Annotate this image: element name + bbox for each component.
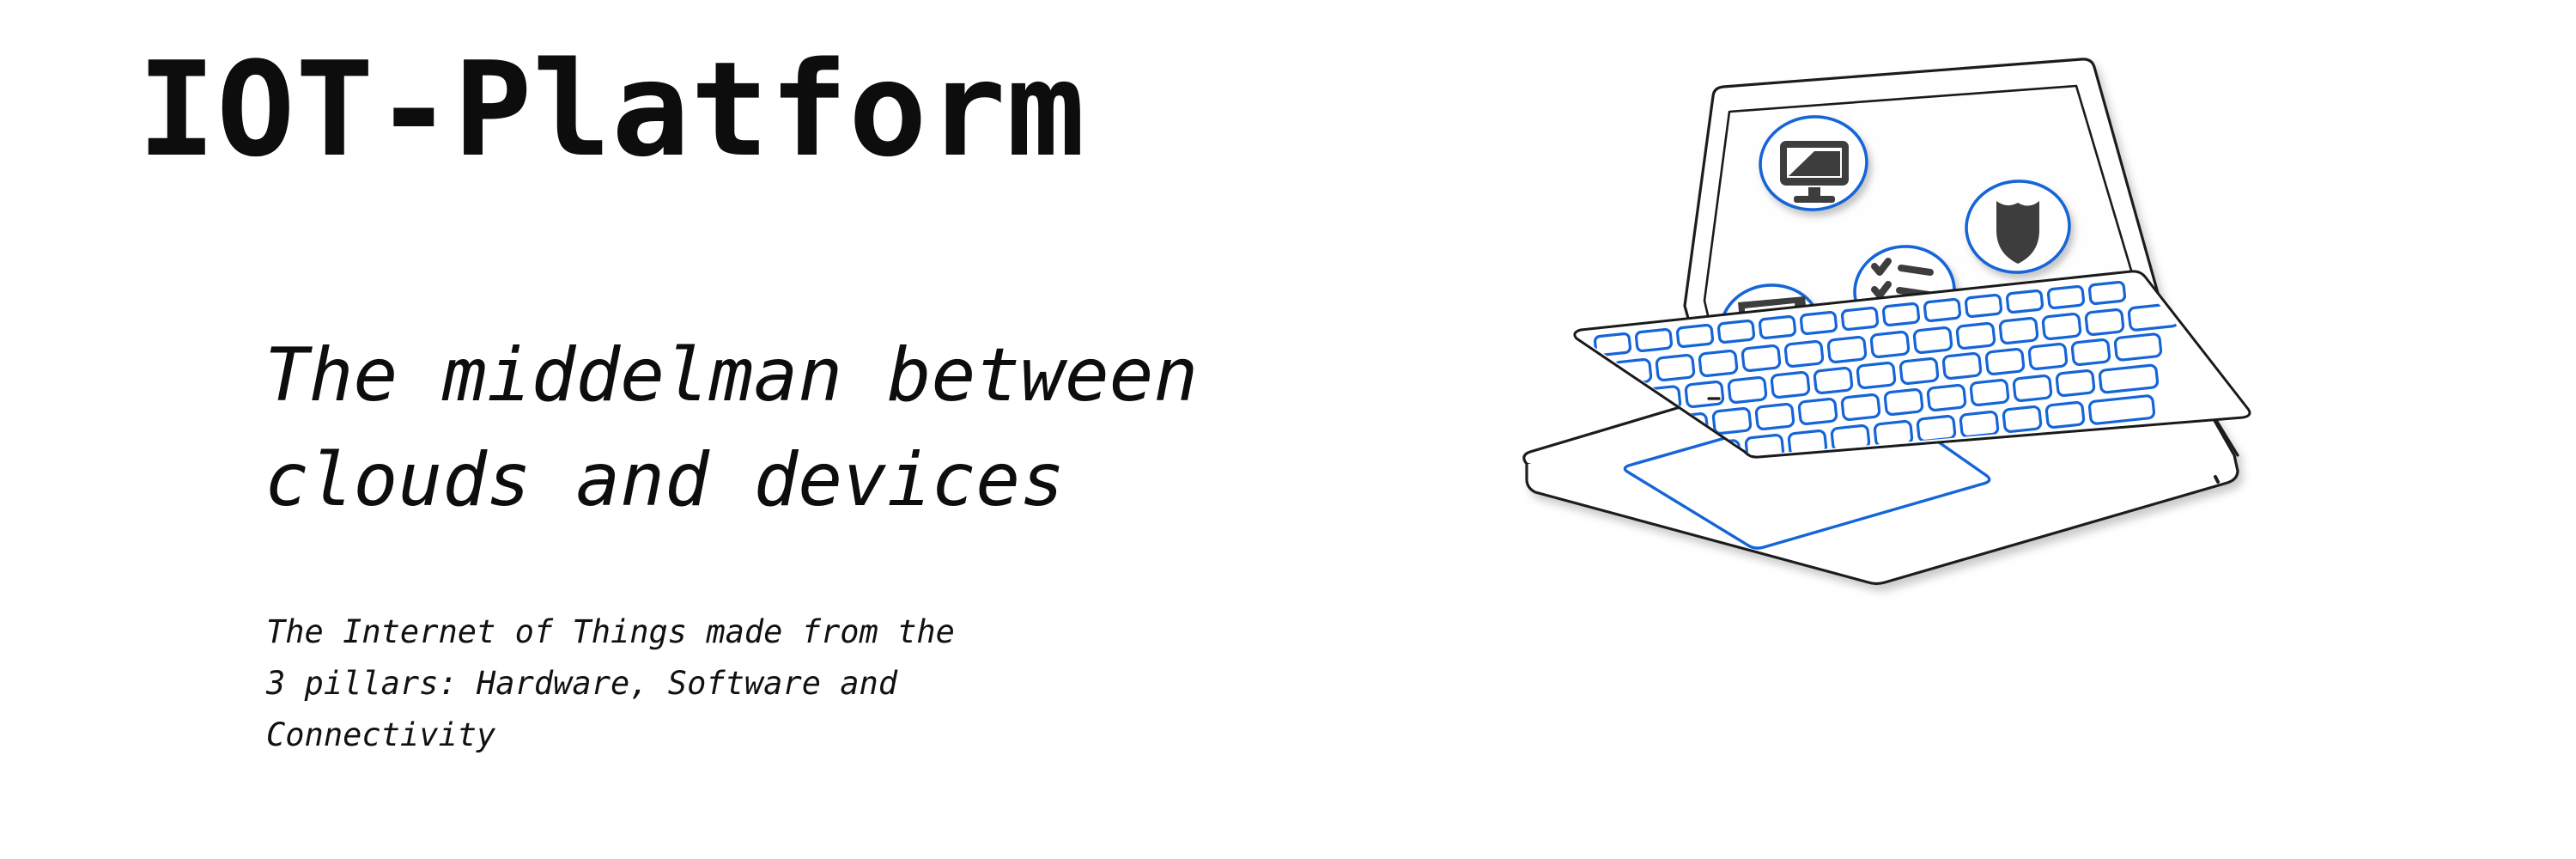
hero-body-line-1: The Internet of Things made from the [266,606,1297,658]
hero-subtitle-line-1: The middelman between [264,323,1467,428]
hero-subtitle: The middelman between clouds and devices [264,323,1467,533]
hero-body-line-3: Connectivity [266,710,1297,761]
hero-slide: IOT-Platform The middelman between cloud… [0,0,2576,859]
hero-text-column: IOT-Platform The middelman between cloud… [0,0,1631,859]
laptop-illustration [1494,52,2284,756]
page-title: IOT-Platform [137,33,1085,186]
hero-subtitle-line-2: clouds and devices [264,428,1467,533]
hero-body-copy: The Internet of Things made from the 3 p… [266,606,1297,761]
hero-body-line-2: 3 pillars: Hardware, Software and [266,658,1297,710]
laptop-svg [1494,52,2284,756]
